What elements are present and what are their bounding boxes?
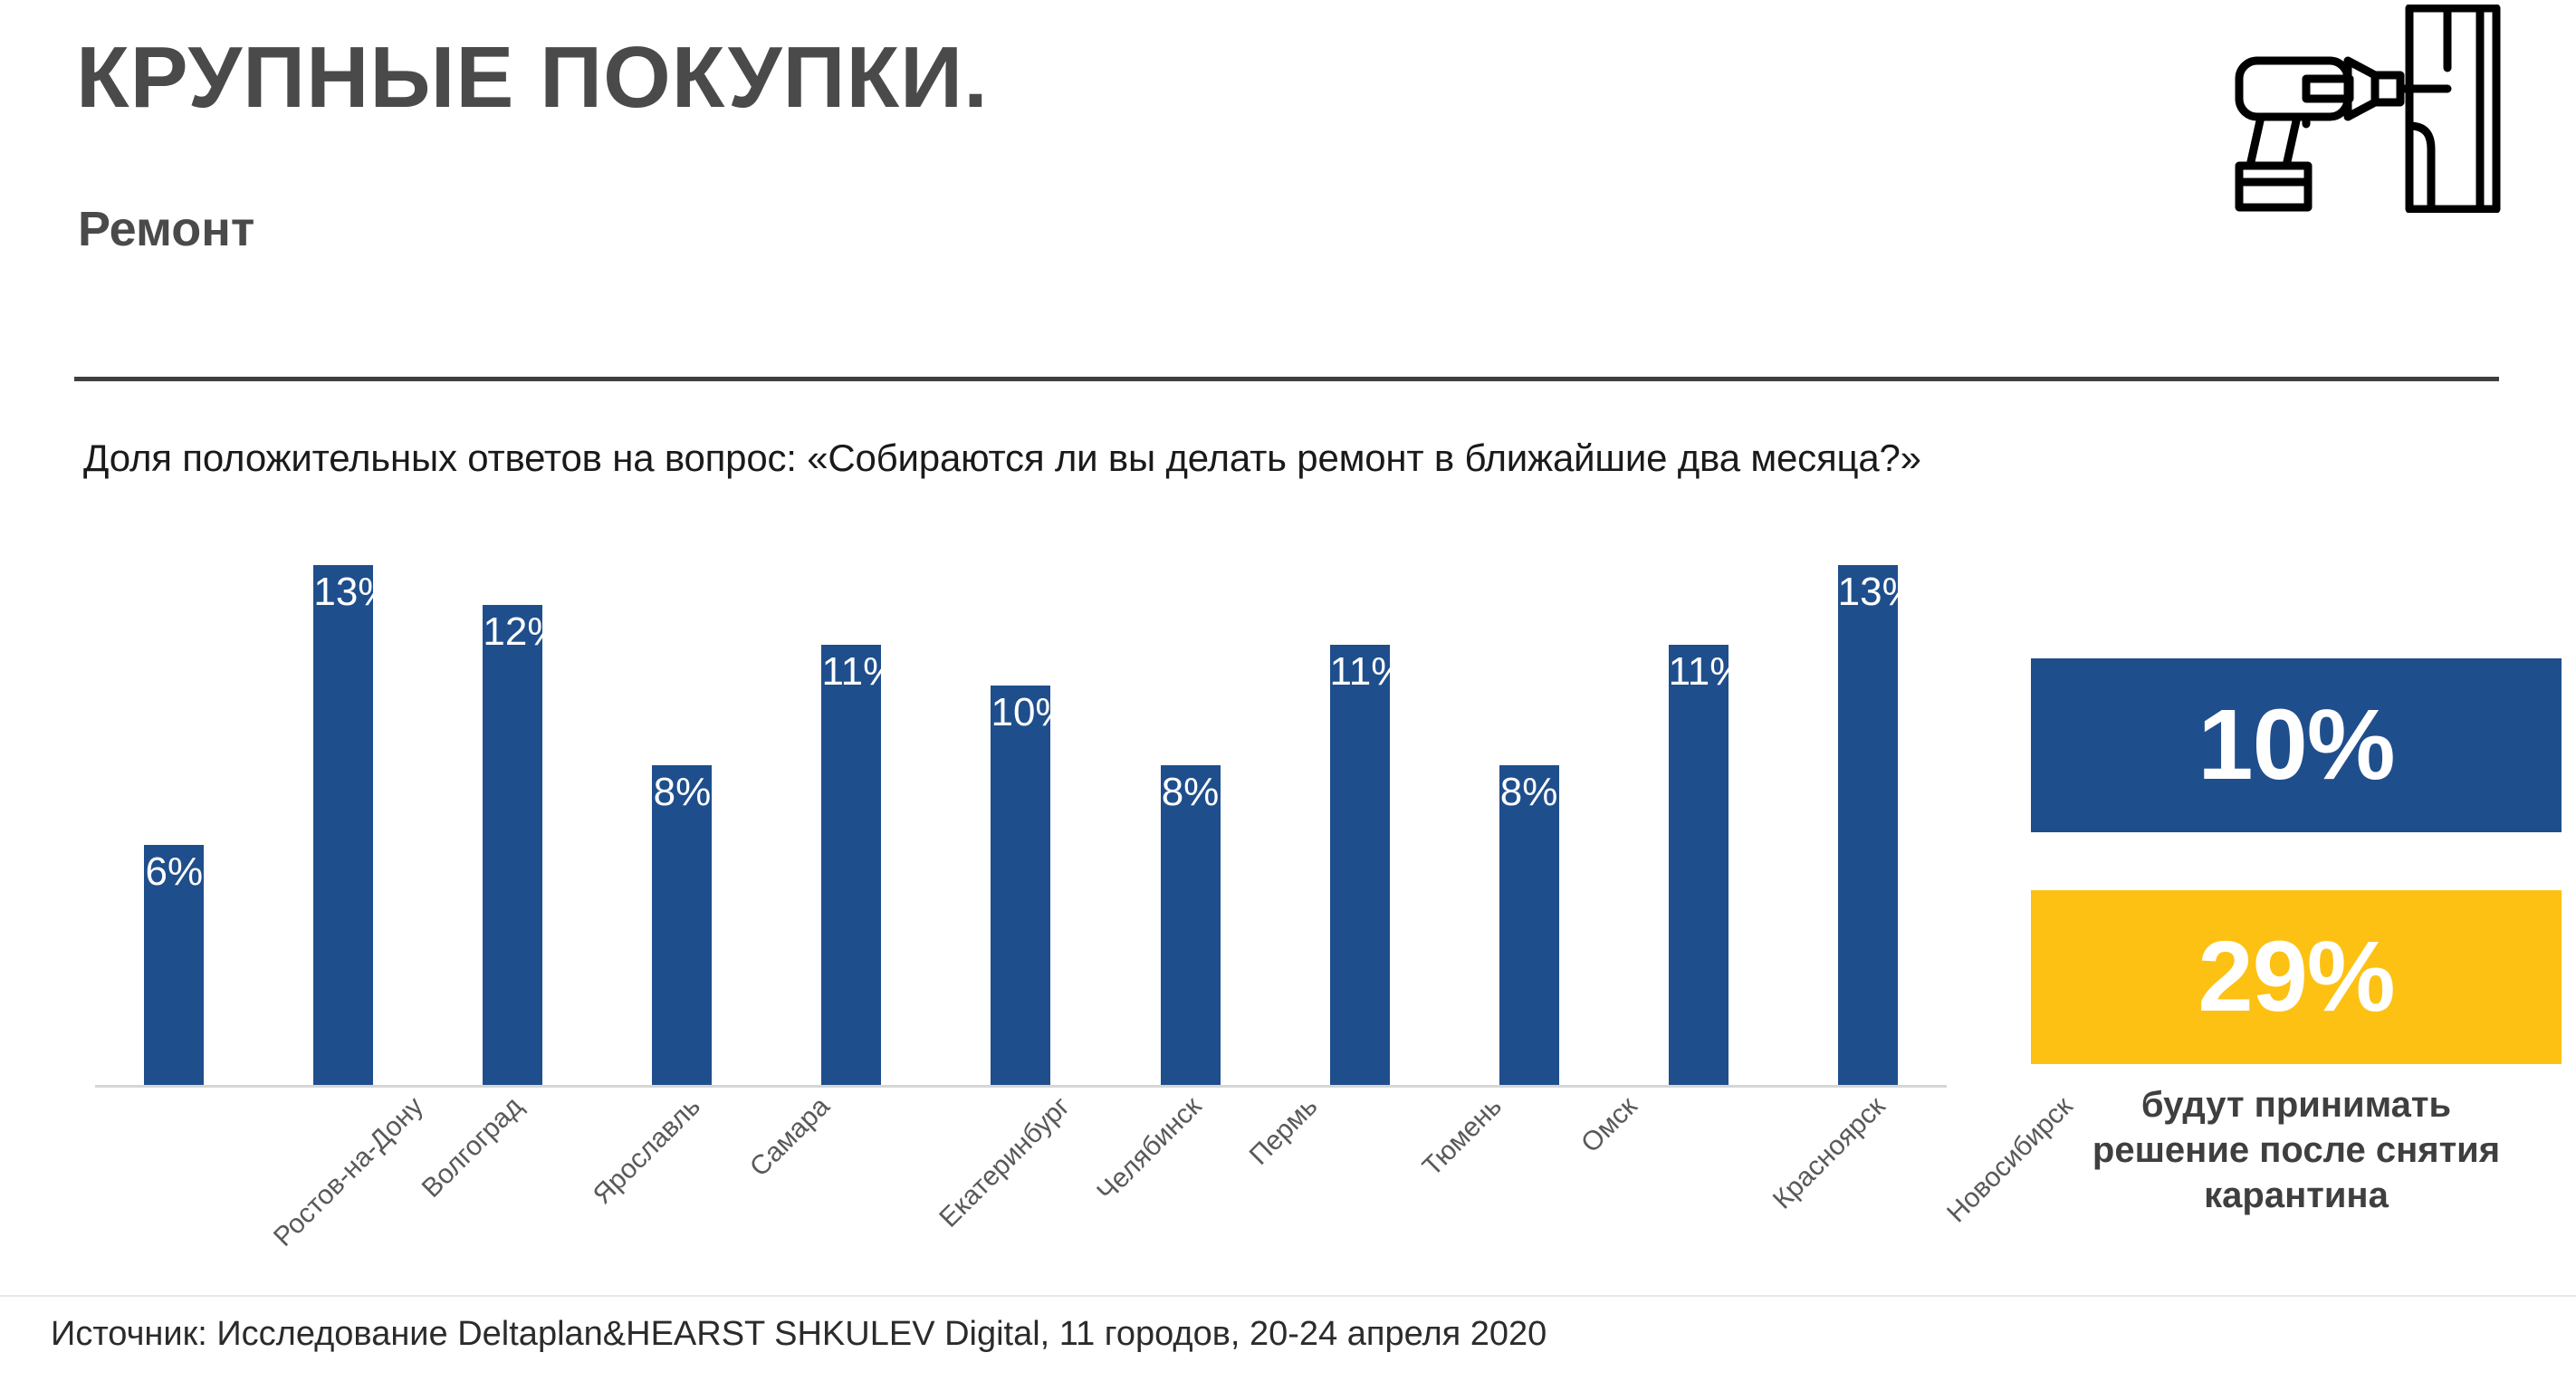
chart-bar: 6% (144, 845, 204, 1085)
chart-plot-area: 6%13%12%8%11%10%8%11%8%11%13% (95, 525, 1947, 1085)
bar-slot: 13% (1794, 525, 1941, 1085)
bar-value-label: 11% (1330, 652, 1390, 692)
callout-caption-line: будут принимать (2141, 1085, 2451, 1125)
bar-value-label: 11% (1669, 652, 1729, 692)
bar-value-label: 12% (483, 612, 542, 652)
chart-bar: 8% (1499, 765, 1559, 1085)
source-note: Источник: Исследование Deltaplan&HEARST … (51, 1315, 1547, 1354)
chart-category-label: Самара (744, 1091, 836, 1183)
bar-slot: 13% (270, 525, 417, 1085)
bar-slot: 8% (608, 525, 756, 1085)
bar-value-label: 13% (1838, 572, 1898, 612)
chart-bar: 8% (652, 765, 712, 1085)
bar-slot: 8% (1455, 525, 1603, 1085)
drill-icon (2223, 5, 2531, 213)
bar-slot: 11% (1624, 525, 1772, 1085)
chart-bar: 11% (821, 645, 881, 1085)
chart-bar: 11% (1330, 645, 1390, 1085)
chart-bar: 8% (1161, 765, 1221, 1085)
callout-blue-box: 10% (2031, 658, 2562, 832)
bar-value-label: 8% (652, 772, 712, 812)
chart-bar: 13% (1838, 565, 1898, 1085)
bar-chart: 6%13%12%8%11%10%8%11%8%11%13% (95, 525, 1947, 1096)
bar-value-label: 6% (144, 852, 204, 892)
chart-category-label: Челябинск (1091, 1091, 1208, 1208)
callout-blue-value: 10% (2198, 695, 2394, 795)
callout-yellow-value: 29% (2198, 927, 2394, 1027)
chart-category-label: Омск (1575, 1091, 1643, 1159)
chart-category-label: Ростов-на-Дону (268, 1091, 430, 1253)
chart-question: Доля положительных ответов на вопрос: «С… (83, 436, 1921, 480)
bar-value-label: 8% (1499, 772, 1559, 812)
header-divider (74, 377, 2499, 381)
callout-caption-line: карантина (2204, 1175, 2389, 1215)
chart-axis-line (95, 1085, 1947, 1088)
chart-category-label: Екатеринбург (934, 1091, 1076, 1233)
page-title: КРУПНЫЕ ПОКУПКИ. (76, 33, 989, 124)
footer-divider (0, 1295, 2576, 1297)
bar-slot: 8% (1116, 525, 1264, 1085)
chart-category-label: Красноярск (1767, 1091, 1891, 1215)
callout-caption: будут приниматьрешение после снятиякаран… (2031, 1082, 2562, 1218)
bar-value-label: 8% (1161, 772, 1221, 812)
bar-slot: 11% (1286, 525, 1433, 1085)
callout-caption-line: решение после снятия (2092, 1130, 2500, 1170)
chart-category-label: Пермь (1244, 1091, 1325, 1172)
bar-value-label: 13% (313, 572, 373, 612)
chart-category-labels: Ростов-на-ДонуВолгоградЯрославльСамараЕк… (95, 1091, 1947, 1272)
bar-slot: 12% (439, 525, 587, 1085)
page-subtitle: Ремонт (78, 204, 254, 255)
chart-category-label: Ярославль (587, 1091, 706, 1211)
callout-yellow-box: 29% (2031, 890, 2562, 1064)
bar-slot: 6% (101, 525, 248, 1085)
chart-bar: 12% (483, 605, 542, 1085)
bar-value-label: 11% (821, 652, 881, 692)
bar-slot: 11% (778, 525, 925, 1085)
bar-value-label: 10% (991, 693, 1050, 733)
chart-bar: 13% (313, 565, 373, 1085)
bar-slot: 10% (947, 525, 1095, 1085)
infographic-slide: КРУПНЫЕ ПОКУПКИ. Ремонт (0, 0, 2576, 1391)
chart-bar: 10% (991, 686, 1050, 1085)
chart-category-label: Тюмень (1417, 1091, 1508, 1183)
chart-category-label: Волгоград (417, 1091, 530, 1204)
chart-bar: 11% (1669, 645, 1729, 1085)
